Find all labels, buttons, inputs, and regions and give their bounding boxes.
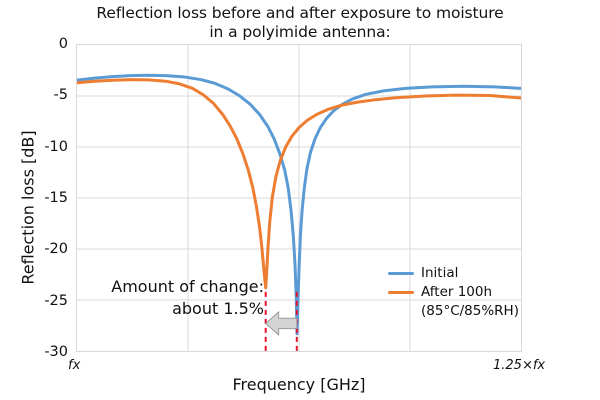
x-tick-label-fx: fx [68, 358, 80, 373]
legend-item-after-100h: After 100h [388, 283, 519, 302]
annotation-amount-of-change: Amount of change: about 1.5% [82, 276, 264, 320]
legend-swatch-after-100h [388, 291, 414, 294]
legend-label-after-100h: After 100h [421, 283, 492, 302]
x-axis-label: Frequency [GHz] [76, 375, 522, 394]
legend-label-after-100h-condition: (85°C/85%RH) [421, 302, 519, 321]
y-tick-label-0: 0 [4, 36, 68, 52]
y-tick-label--30: -30 [4, 344, 68, 360]
y-axis-label: Reflection loss [dB] [19, 88, 38, 328]
x-tick-label-1.25fx: 1.25×fx [493, 358, 545, 373]
change-arrow-left-icon [266, 312, 297, 335]
chart-figure: Reflection loss before and after exposur… [0, 0, 600, 400]
legend-item-initial: Initial [388, 264, 519, 283]
legend-label-initial: Initial [421, 264, 458, 283]
annotation-line-1: Amount of change: [82, 276, 264, 298]
chart-legend: Initial After 100h (85°C/85%RH) [388, 264, 519, 321]
legend-swatch-initial [388, 272, 414, 275]
annotation-line-2: about 1.5% [82, 298, 264, 320]
